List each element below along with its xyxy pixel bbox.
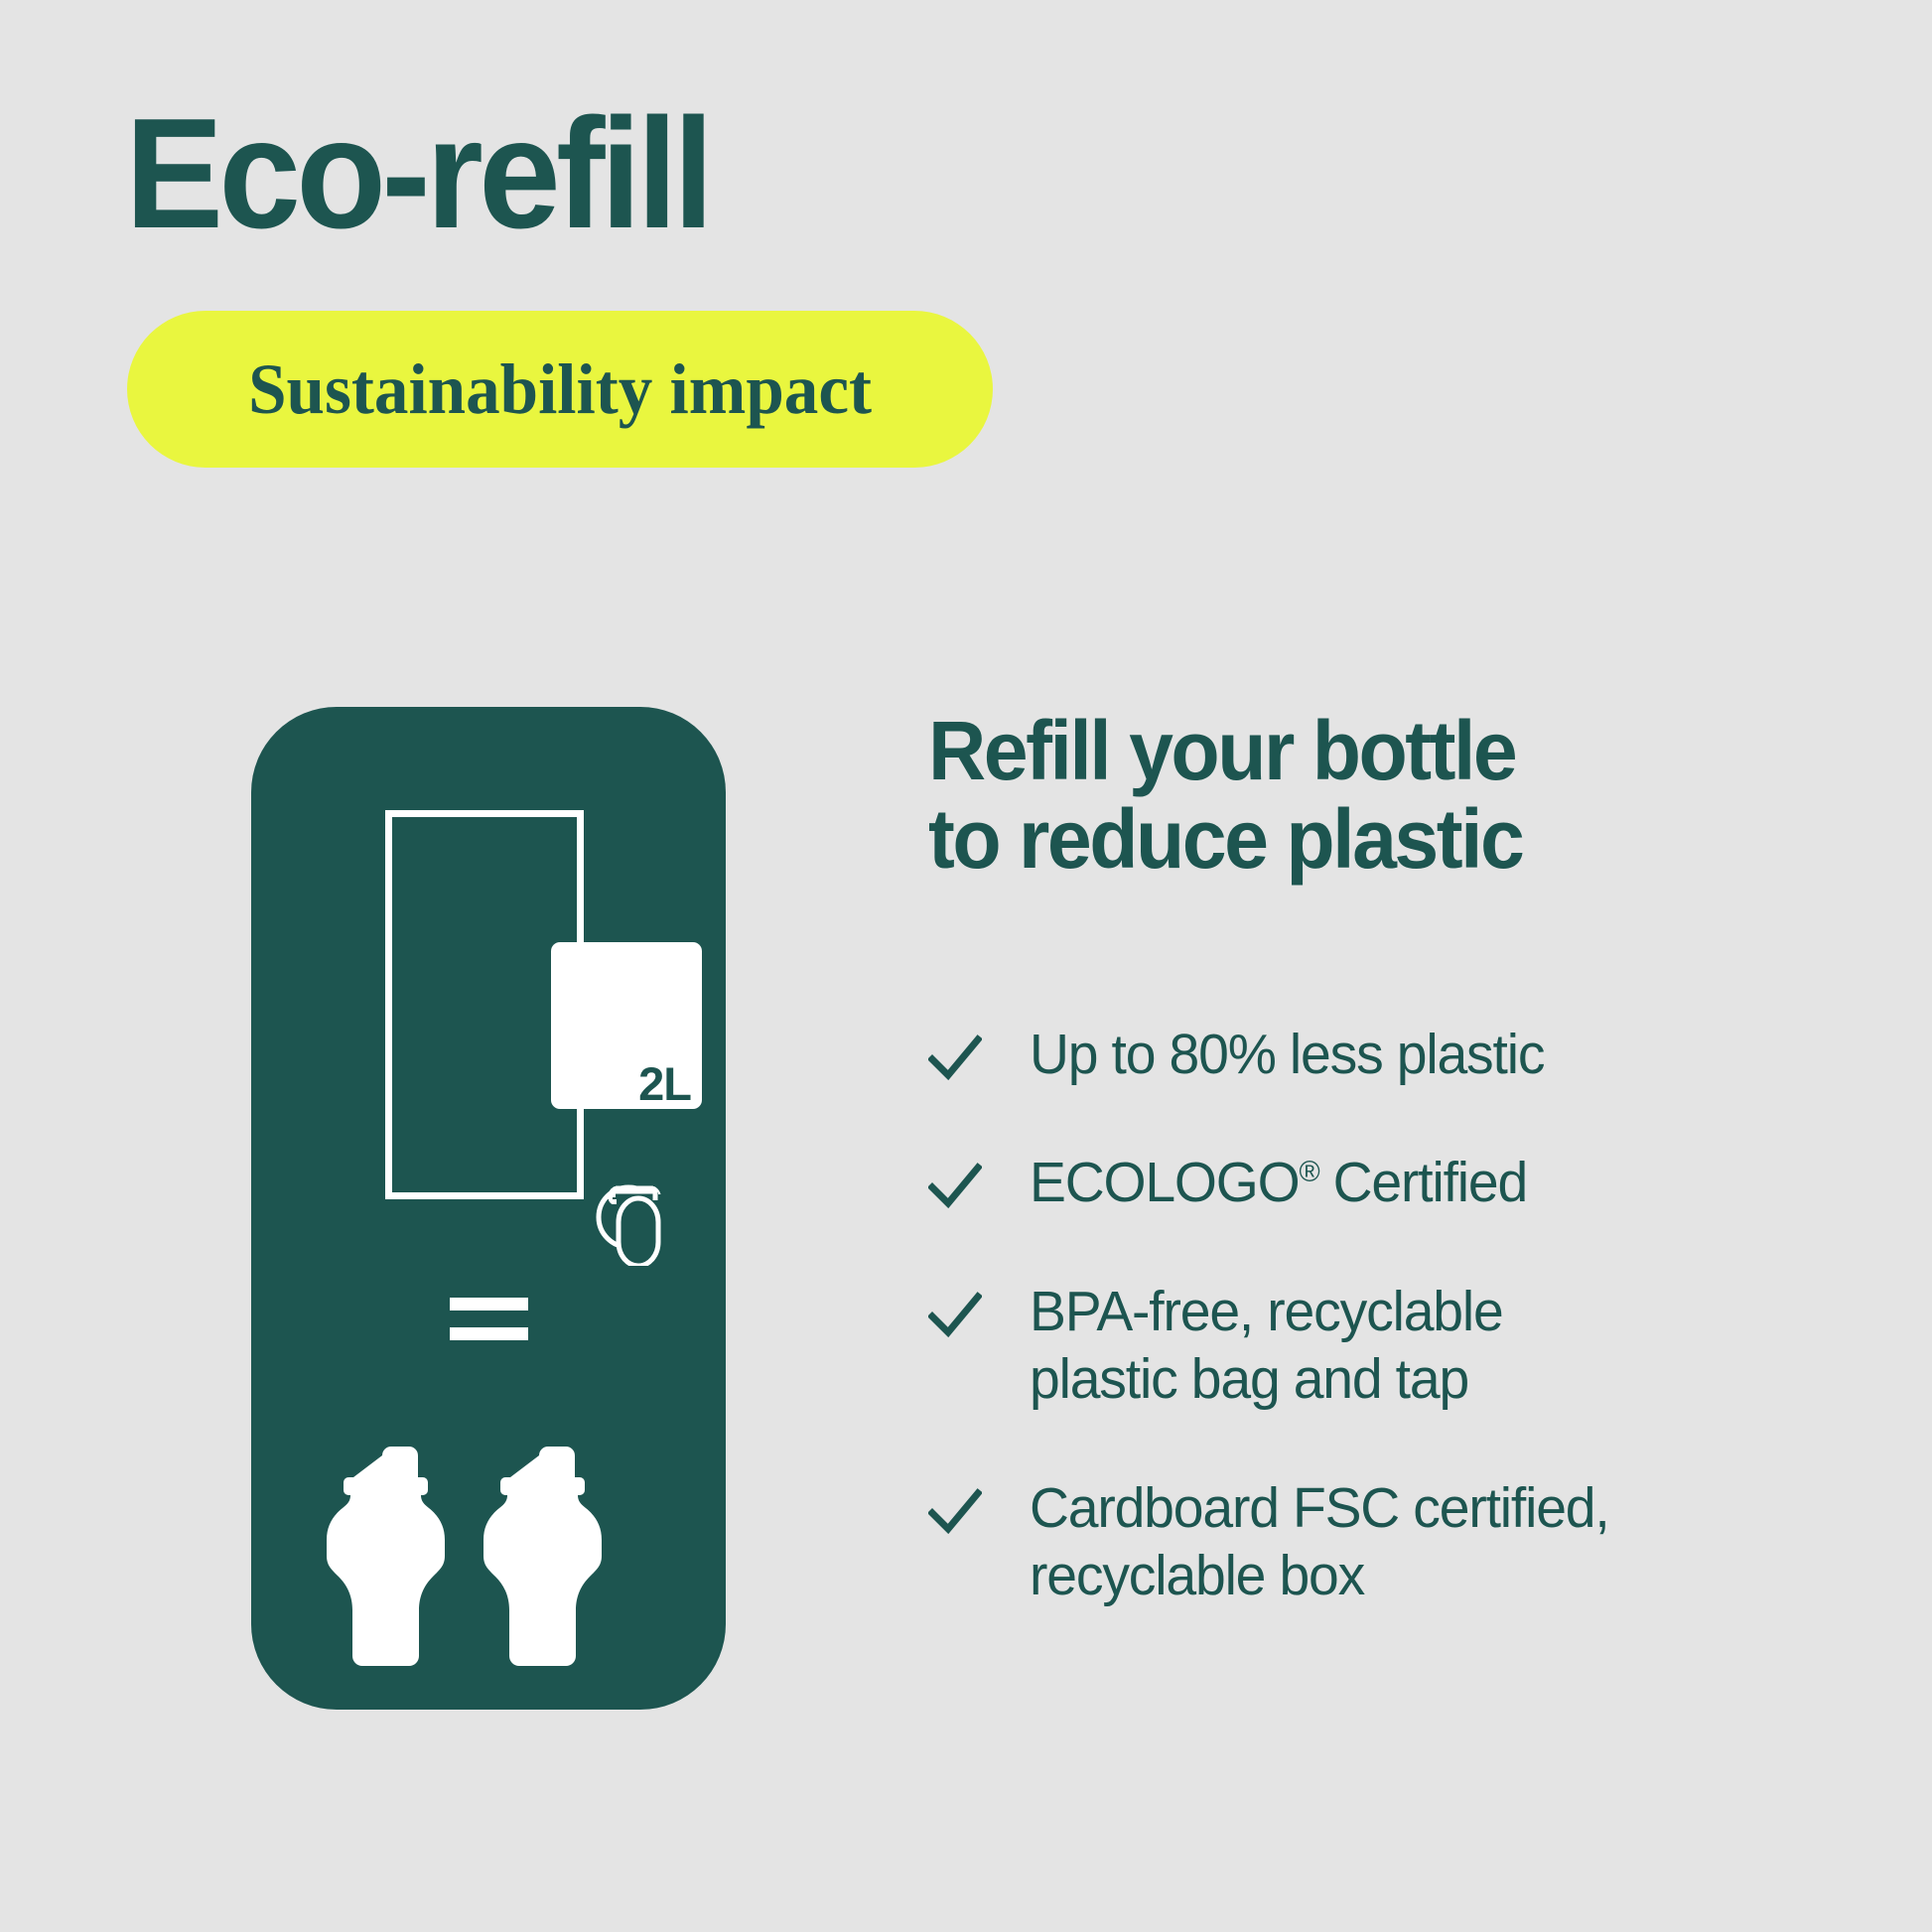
eco-refill-infographic: Eco-refill Sustainability impact 2L (0, 0, 1932, 1932)
check-icon (928, 1288, 982, 1345)
feature-item-ecologo: ECOLOGO® Certified (928, 1149, 1792, 1216)
feature-text: ECOLOGO® Certified (1030, 1149, 1527, 1216)
bottle-pair-illustration (326, 1442, 653, 1670)
feature-text: Cardboard FSC certified, recyclable box (1030, 1474, 1609, 1610)
headline: Refill your bottle to reduce plastic (928, 707, 1757, 884)
feature-item-cardboard-fsc: Cardboard FSC certified, recyclable box (928, 1474, 1792, 1610)
ecologo-word: ECOLOGO (1030, 1151, 1299, 1214)
check-icon (928, 1159, 982, 1216)
feature-list: Up to 80% less plastic ECOLOGO® Certifie… (928, 1021, 1792, 1609)
refill-carton-outline: 2L (385, 810, 584, 1199)
illustration-panel: 2L (251, 707, 726, 1710)
feature-item-less-plastic: Up to 80% less plastic (928, 1021, 1792, 1088)
feature-line: plastic bag and tap (1030, 1345, 1503, 1413)
content-column: Refill your bottle to reduce plastic Up … (928, 707, 1792, 884)
feature-item-bpa-free: BPA-free, recyclable plastic bag and tap (928, 1278, 1792, 1414)
registered-mark: ® (1299, 1156, 1318, 1188)
sustainability-impact-badge: Sustainability impact (127, 311, 993, 468)
check-icon (928, 1031, 982, 1088)
refill-tap-icon (589, 1159, 668, 1266)
feature-line: ECOLOGO® Certified (1030, 1149, 1527, 1216)
feature-line: Up to 80% less plastic (1030, 1021, 1544, 1088)
headline-line-1: Refill your bottle (928, 707, 1757, 795)
equals-symbol (450, 1298, 528, 1340)
feature-line: Cardboard FSC certified, (1030, 1474, 1609, 1542)
feature-line: BPA-free, recyclable (1030, 1278, 1503, 1345)
headline-line-2: to reduce plastic (928, 795, 1757, 884)
ecologo-tail: Certified (1318, 1151, 1527, 1214)
page-title: Eco-refill (125, 95, 709, 252)
feature-text: Up to 80% less plastic (1030, 1021, 1544, 1088)
bottle-left (327, 1447, 445, 1666)
feature-text: BPA-free, recyclable plastic bag and tap (1030, 1278, 1503, 1414)
refill-pouch: 2L (551, 942, 702, 1109)
badge-label: Sustainability impact (248, 348, 872, 431)
check-icon (928, 1484, 982, 1542)
feature-line: recyclable box (1030, 1542, 1609, 1609)
carton-volume-label: 2L (638, 1060, 691, 1107)
bottle-right (483, 1447, 602, 1666)
